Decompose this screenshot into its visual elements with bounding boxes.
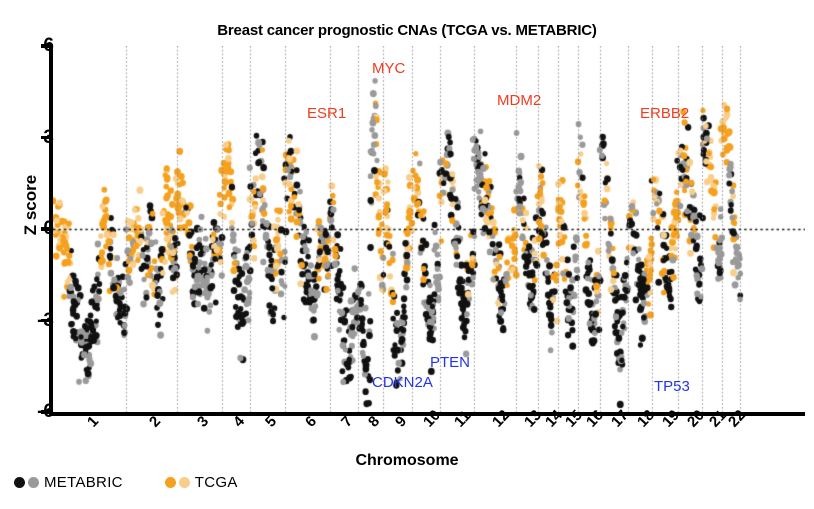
legend-label: METABRIC [44, 474, 123, 491]
legend-swatch-tcga [165, 477, 190, 488]
gene-label-mdm2: MDM2 [497, 92, 541, 109]
y-axis-title: Z score [21, 150, 41, 260]
y-tick-label-6: 6 [14, 36, 54, 55]
gene-label-myc: MYC [372, 60, 405, 77]
legend-dot-light [28, 477, 39, 488]
legend-item-metabric[interactable]: METABRIC [14, 474, 123, 491]
legend-dot-light [179, 477, 190, 488]
gene-label-erbb2: ERBB2 [640, 105, 689, 122]
y-tick-label--3: -3 [14, 311, 54, 330]
legend-dot-dark [14, 477, 25, 488]
scatter-canvas [53, 46, 805, 412]
chart-legend: METABRICTCGA [14, 474, 238, 491]
y-tick-label-3: 3 [14, 128, 54, 147]
gene-label-esr1: ESR1 [307, 105, 346, 122]
gene-label-cdkn2a: CDKN2A [372, 374, 433, 391]
plot-area [53, 46, 805, 412]
gene-label-pten: PTEN [430, 354, 470, 371]
legend-swatch-metabric [14, 477, 39, 488]
chart-figure: Breast cancer prognostic CNAs (TCGA vs. … [0, 0, 814, 509]
y-tick-label--6: -6 [14, 402, 54, 421]
chart-title: Breast cancer prognostic CNAs (TCGA vs. … [0, 22, 814, 39]
gene-label-tp53: TP53 [654, 378, 690, 395]
legend-item-tcga[interactable]: TCGA [165, 474, 238, 491]
legend-label: TCGA [195, 474, 238, 491]
x-axis-title: Chromosome [0, 452, 814, 470]
legend-dot-dark [165, 477, 176, 488]
